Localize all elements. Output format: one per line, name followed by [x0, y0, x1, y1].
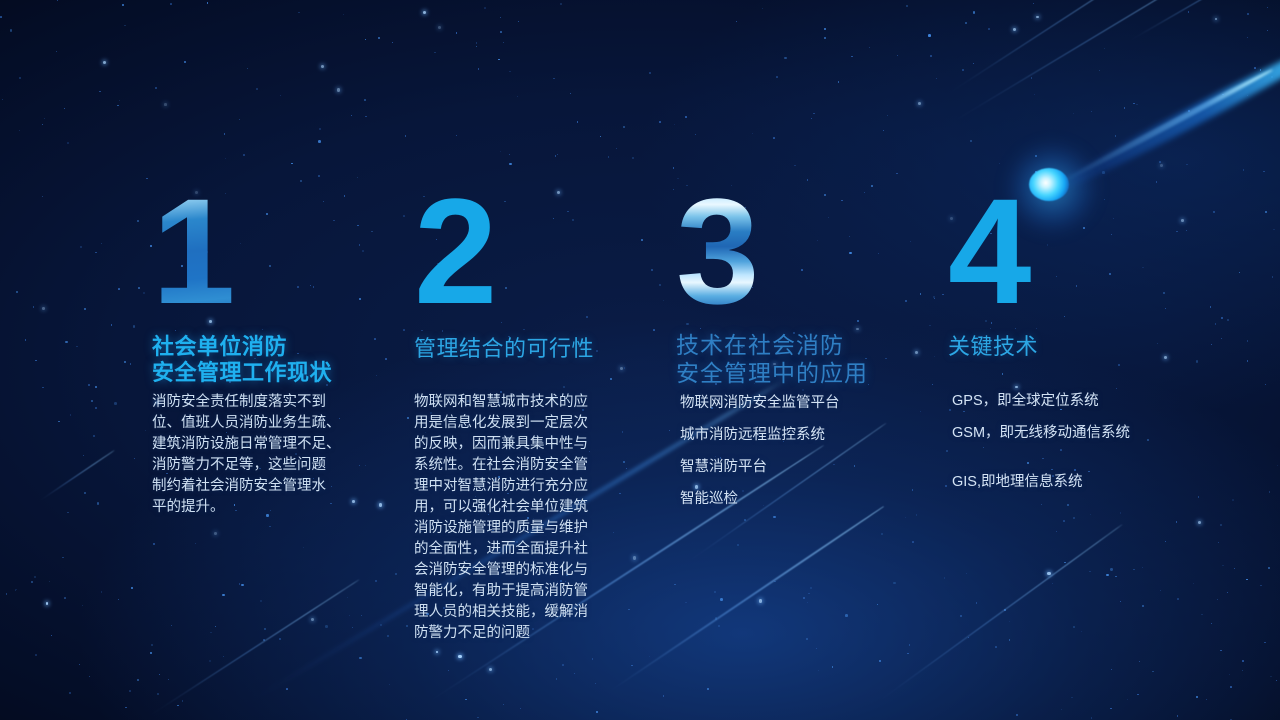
column-numeral: 4 [948, 176, 1029, 326]
slide-canvas: 1社会单位消防 安全管理工作现状消防安全责任制度落实不到 位、值班人员消防业务生… [0, 0, 1280, 720]
column-heading: 社会单位消防 安全管理工作现状 [152, 334, 332, 387]
column-heading: 技术在社会消防 安全管理中的应用 [676, 332, 868, 387]
column-numeral: 3 [676, 176, 757, 326]
content-columns: 1社会单位消防 安全管理工作现状消防安全责任制度落实不到 位、值班人员消防业务生… [0, 0, 1280, 720]
list-item: 智能巡检 [680, 490, 840, 509]
column-body-text: 物联网和智慧城市技术的应 用是信息化发展到一定层次 的反映，因而兼具集中性与 系… [414, 392, 642, 644]
column-body-text: 消防安全责任制度落实不到 位、值班人员消防业务生疏、 建筑消防设施日常管理不足、… [152, 392, 402, 518]
list-item: 城市消防远程监控系统 [680, 426, 840, 445]
column-heading: 管理结合的可行性 [414, 336, 594, 362]
column-heading: 关键技术 [948, 334, 1038, 360]
list-item: GIS,即地理信息系统 [952, 473, 1130, 492]
column-item-list: GPS，即全球定位系统GSM，即无线移动通信系统GIS,即地理信息系统 [952, 392, 1130, 492]
column-numeral: 2 [414, 176, 495, 326]
list-item: GSM，即无线移动通信系统 [952, 424, 1130, 443]
column-numeral: 1 [152, 176, 233, 326]
list-item: GPS，即全球定位系统 [952, 392, 1130, 411]
column-item-list: 物联网消防安全监管平台城市消防远程监控系统智慧消防平台智能巡检 [680, 394, 840, 508]
list-item: 智慧消防平台 [680, 458, 840, 477]
list-item: 物联网消防安全监管平台 [680, 394, 840, 413]
